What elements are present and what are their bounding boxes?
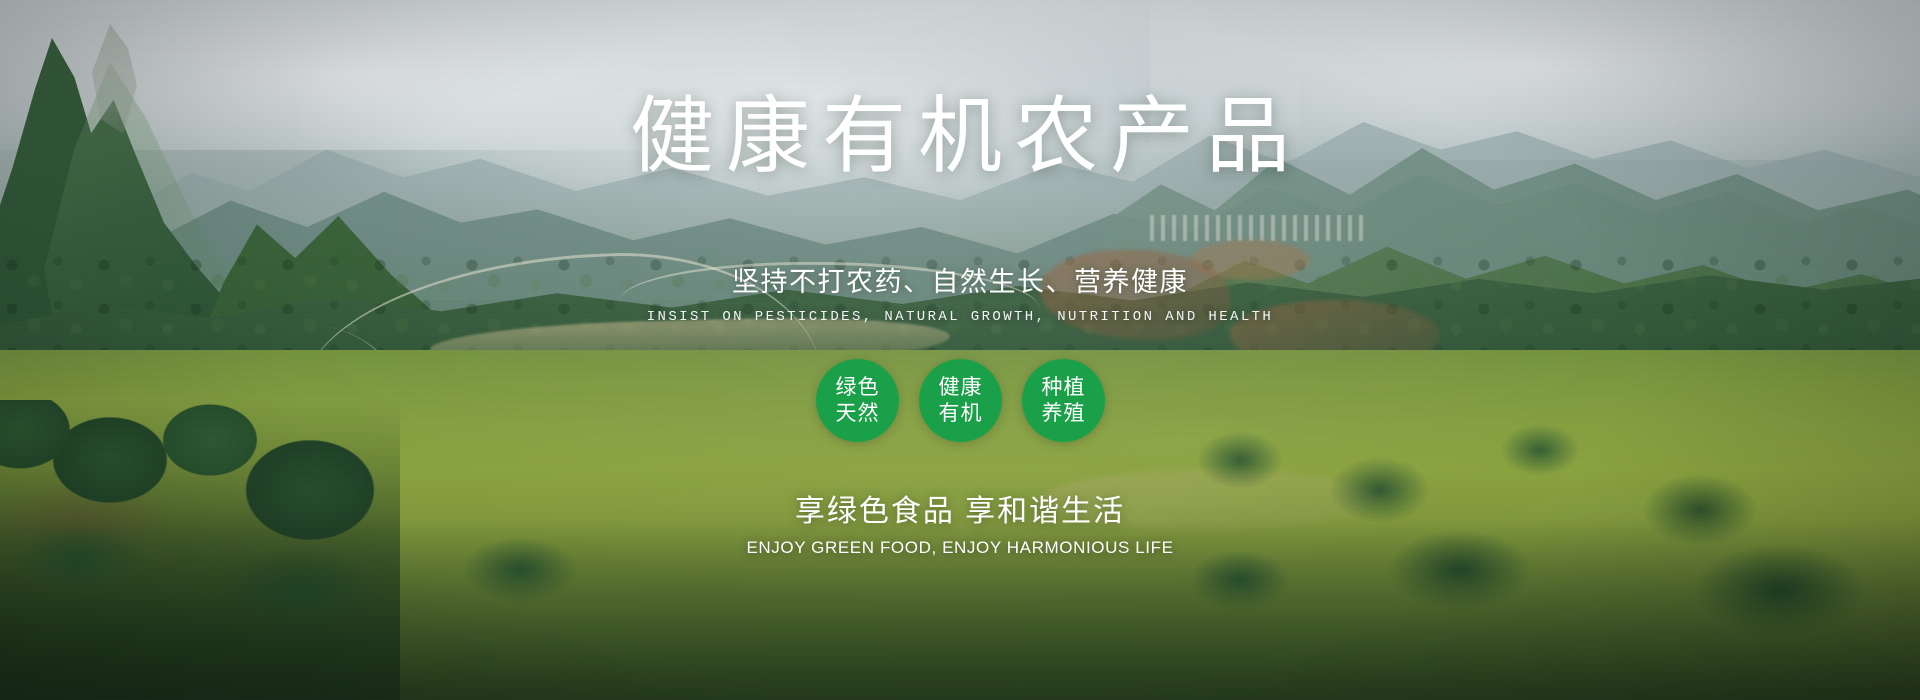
feature-badge-planting-breeding-line1: 种植 (1041, 375, 1086, 401)
banner-subtitle: 坚持不打农药、自然生长、营养健康 (732, 260, 1188, 299)
feature-badge-green-natural-line1: 绿色 (835, 375, 880, 401)
feature-badge-healthy-organic[interactable]: 健康 有机 (919, 359, 1002, 442)
banner-content: 健康有机农产品 坚持不打农药、自然生长、营养健康 INSIST ON PESTI… (0, 0, 1920, 700)
hero-banner: 健康有机农产品 坚持不打农药、自然生长、营养健康 INSIST ON PESTI… (0, 0, 1920, 700)
feature-badge-green-natural[interactable]: 绿色 天然 (816, 359, 899, 442)
feature-badge-healthy-organic-line1: 健康 (938, 375, 983, 401)
banner-subtitle-english: INSIST ON PESTICIDES, NATURAL GROWTH, NU… (647, 309, 1273, 325)
page-title: 健康有机农产品 (618, 96, 1302, 180)
feature-badge-green-natural-line2: 天然 (835, 401, 880, 427)
feature-badge-healthy-organic-line2: 有机 (938, 401, 983, 427)
feature-badge-group: 绿色 天然 健康 有机 种植 养殖 (816, 359, 1105, 442)
banner-tagline: 享绿色食品 享和谐生活 (795, 486, 1125, 530)
banner-tagline-english: ENJOY GREEN FOOD, ENJOY HARMONIOUS LIFE (746, 538, 1173, 558)
feature-badge-planting-breeding-line2: 养殖 (1041, 401, 1086, 427)
feature-badge-planting-breeding[interactable]: 种植 养殖 (1022, 359, 1105, 442)
